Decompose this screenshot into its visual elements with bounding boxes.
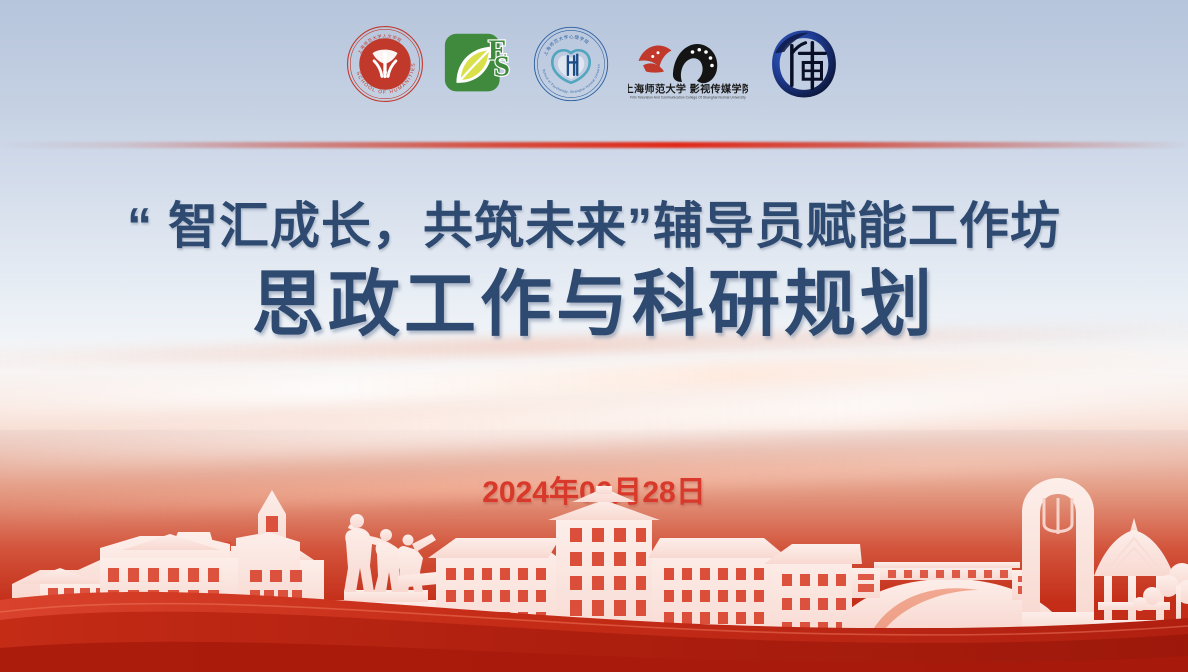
poster-subtitle: “ 智汇成长，共筑未来”辅导员赋能工作坊 xyxy=(0,196,1188,257)
environmental-science-leaf-icon: E S xyxy=(442,28,514,105)
shanghai-normal-university-blue-seal-icon: 上海师范大学心理学院 School of Psychology, Shangha… xyxy=(532,25,610,108)
red-divider-line xyxy=(0,142,1188,148)
poster-main-title: 思政工作与科研规划 xyxy=(0,263,1188,348)
film-television-communication-college-icon: 上海师范大学 影视传媒学院 Film Television And Commun… xyxy=(628,26,748,107)
svg-text:Film Television And Communicat: Film Television And Communication Colleg… xyxy=(630,95,746,99)
campus-skyline-illustration xyxy=(0,472,1188,672)
poster-canvas: 1954 上海师范大学人文学院 SCHOOL OF HUMANITIES E S xyxy=(0,0,1188,672)
svg-text:上海师范大学 影视传媒学院: 上海师范大学 影视传媒学院 xyxy=(628,82,748,95)
logo-row: 1954 上海师范大学人文学院 SCHOOL OF HUMANITIES E S xyxy=(0,24,1188,108)
svg-text:1954: 1954 xyxy=(380,69,390,74)
statue-group-monument xyxy=(330,514,440,614)
svg-text:上海师范大学心理学院: 上海师范大学心理学院 xyxy=(542,33,591,56)
svg-text:S: S xyxy=(494,50,510,82)
school-of-humanities-seal-icon: 1954 上海师范大学人文学院 SCHOOL OF HUMANITIES xyxy=(346,25,424,108)
physical-education-brush-seal-icon xyxy=(766,26,842,107)
pavilion xyxy=(1094,518,1176,632)
title-block: “ 智汇成长，共筑未来”辅导员赋能工作坊 思政工作与科研规划 xyxy=(0,196,1188,348)
